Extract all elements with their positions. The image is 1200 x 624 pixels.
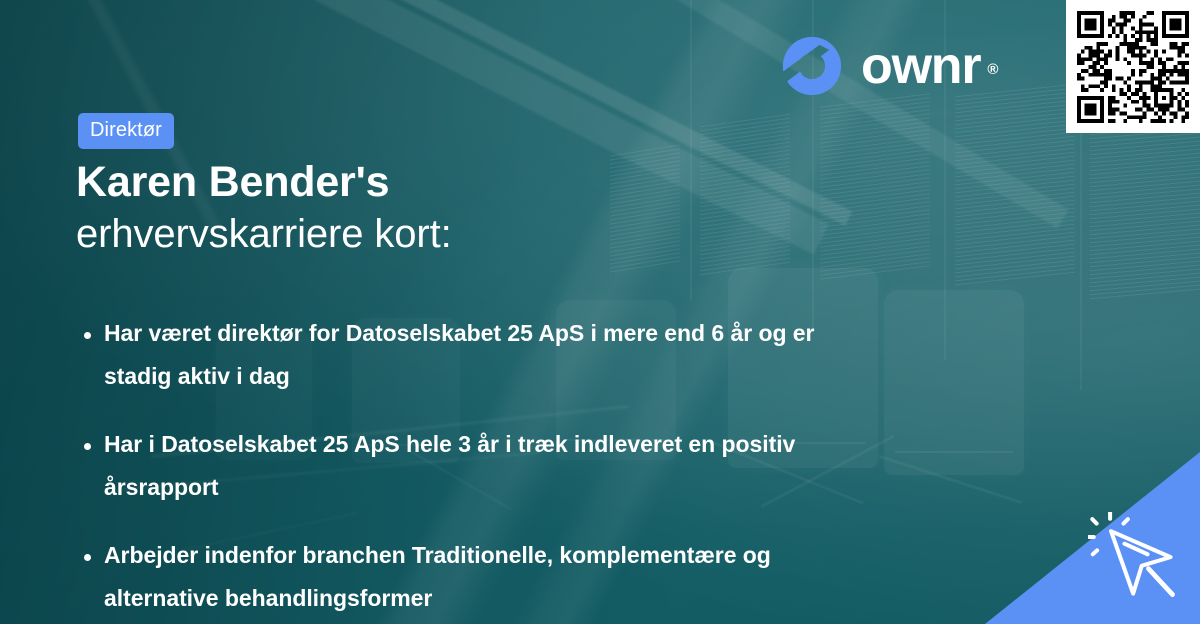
career-facts-list: Har været direktør for Datoselskabet 25 … [80, 312, 870, 624]
qr-code[interactable] [1066, 0, 1200, 133]
page-title: Karen Bender's erhvervskarriere kort: [76, 156, 836, 260]
list-item: Har været direktør for Datoselskabet 25 … [80, 312, 870, 398]
title-line-2: erhvervskarriere kort: [76, 208, 836, 260]
ownr-circle-mark [781, 35, 843, 97]
ownr-wordmark: ownr® [861, 40, 998, 92]
career-card: Direktør Karen Bender's erhvervskarriere… [0, 0, 1200, 624]
list-item: Har i Datoselskabet 25 ApS hele 3 år i t… [80, 423, 870, 509]
ownr-wordmark-text: ownr [861, 37, 980, 95]
click-cursor-icon [1088, 512, 1184, 608]
role-badge: Direktør [78, 113, 174, 149]
qr-code-canvas [1077, 11, 1189, 123]
title-line-1: Karen Bender's [76, 156, 836, 208]
list-item: Arbejder indenfor branchen Traditionelle… [80, 534, 870, 620]
ownr-logo[interactable]: ownr® [781, 35, 998, 97]
registered-trademark-icon: ® [987, 44, 998, 96]
